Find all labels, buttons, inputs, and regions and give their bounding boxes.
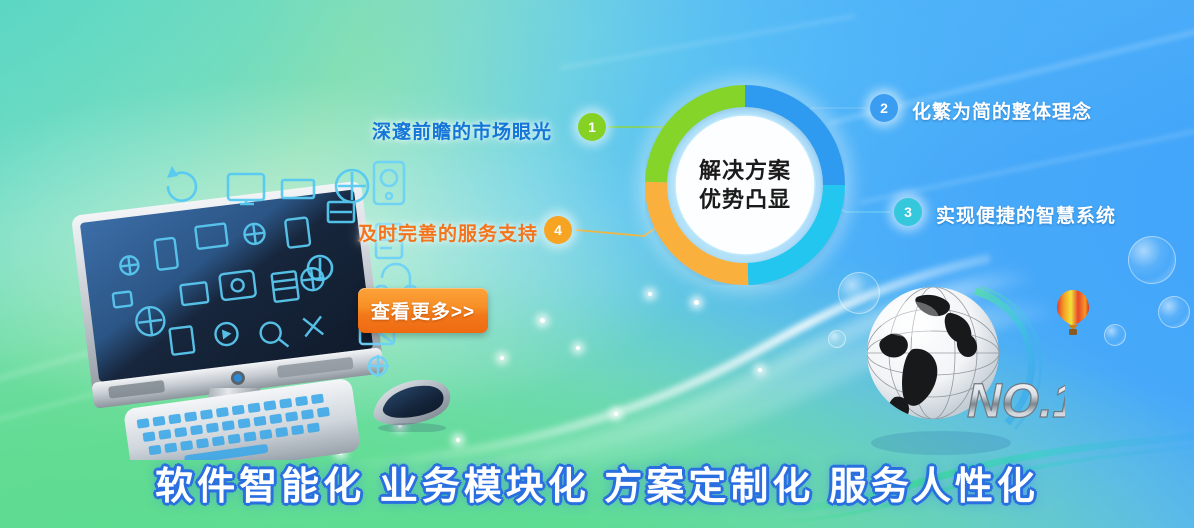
solution-donut-chart: 解决方案 优势凸显: [645, 85, 845, 285]
ring-center-line-2: 优势凸显: [699, 185, 791, 214]
point-badge-3[interactable]: 3: [894, 198, 922, 226]
bottom-slogan: 软件智能化 业务模块化 方案定制化 服务人性化: [0, 455, 1194, 510]
view-more-button[interactable]: 查看更多>>: [358, 288, 488, 333]
ring-center-line-1: 解决方案: [699, 156, 791, 185]
point-label-1: 深邃前瞻的市场眼光: [372, 117, 552, 144]
point-label-3: 实现便捷的智慧系统: [936, 201, 1116, 228]
point-badge-4[interactable]: 4: [544, 216, 572, 244]
ring-center-label: 解决方案 优势凸显: [699, 156, 791, 214]
point-badge-2[interactable]: 2: [870, 94, 898, 122]
point-badge-1[interactable]: 1: [578, 113, 606, 141]
marketing-banner: NO.1: [0, 0, 1194, 528]
point-label-2: 化繁为简的整体理念: [912, 97, 1092, 124]
point-label-4: 及时完善的服务支持: [358, 219, 538, 246]
connector-lines: [0, 0, 1194, 528]
